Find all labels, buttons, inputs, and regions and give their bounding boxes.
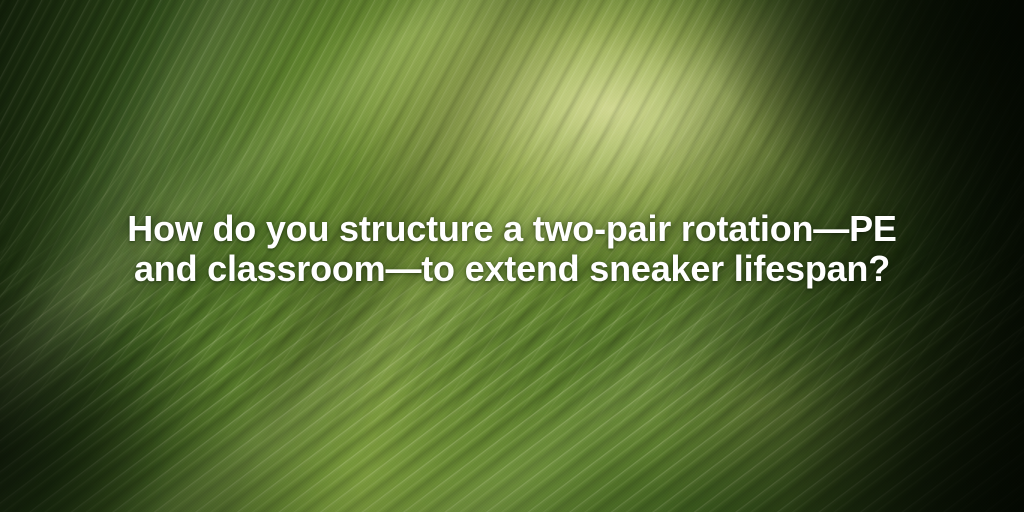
leaf-background-image: [0, 0, 1024, 512]
hero-banner: How do you structure a two-pair rotation…: [0, 0, 1024, 512]
photo-grain-texture: [0, 0, 1024, 512]
